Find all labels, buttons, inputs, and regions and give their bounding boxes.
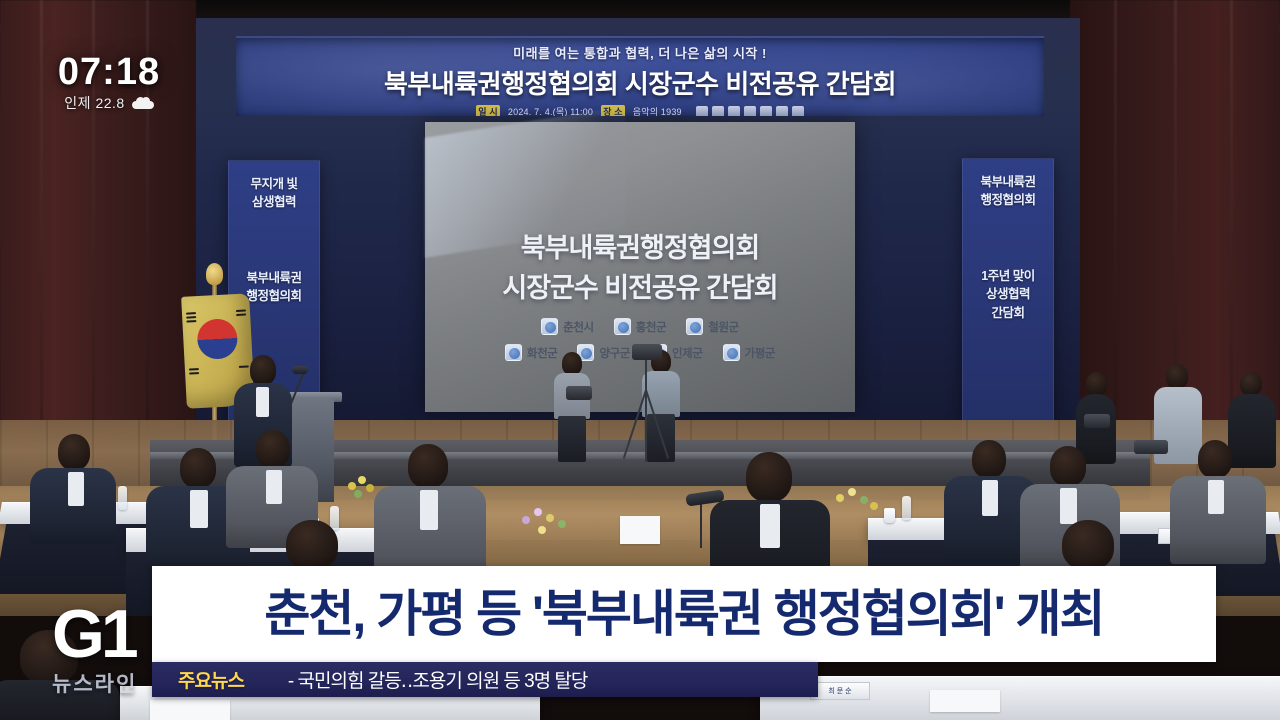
person-attendee-left-1 (30, 434, 116, 544)
tabletop-sign (620, 516, 660, 544)
city-emblem-icon (686, 318, 703, 335)
flower-arrangement (344, 474, 378, 506)
station-logo-g1: G1 (52, 600, 135, 668)
ticker-text: - 국민의힘 갈등‥조용기 의원 등 3명 탈당 (288, 666, 587, 693)
vbanner-left-line-1: 무지개 빛 (229, 175, 319, 193)
banner-date-key: 일 시 (476, 105, 500, 116)
stage-curtain-left (0, 0, 196, 470)
screen-title-line2: 시장군수 비전공유 간담회 (425, 266, 855, 305)
city-chip-gapyeong: 가평군 (723, 344, 776, 361)
press-camera-2 (1134, 440, 1168, 454)
vbanner-right-line-2: 행정협의회 (963, 191, 1053, 209)
banner-meta: 일 시 2024. 7. 4.(목) 11:00 장 소 음악의 1939 (236, 105, 1044, 116)
ticker-label: 주요뉴스 (178, 666, 244, 693)
person-attendee-right-3 (1170, 440, 1266, 564)
headline-text: 춘천, 가평 등 '북부내륙권 행정협의회' 개최 (264, 589, 1103, 639)
city-emblem-icon (723, 344, 740, 361)
flower-arrangement (520, 506, 576, 546)
vbanner-left-line-2: 삼생협력 (229, 193, 319, 211)
vbanner-right-line-1: 북부내륙권 (963, 173, 1053, 191)
city-emblem-icon (541, 318, 558, 335)
taeguk-icon (196, 318, 238, 360)
banner-place-value: 음악의 1939 (633, 105, 682, 116)
city-chip-hwacheon: 화천군 (505, 344, 558, 361)
flag-finial-icon (206, 263, 223, 285)
document-paper (150, 700, 230, 720)
water-bottle (902, 496, 911, 520)
vbanner-right-line-4: 상생협력 (963, 285, 1053, 303)
table-mic-stand (700, 500, 702, 548)
screen-title-line1: 북부내륙권행정협의회 (425, 226, 855, 265)
banner-tagline: 미래를 여는 통합과 협력, 더 나은 삶의 시작 ! (236, 43, 1044, 62)
banner-title: 북부내륙권행정협의회 시장군수 비전공유 간담회 (236, 64, 1044, 101)
water-bottle (118, 486, 127, 510)
city-chip-chuncheon: 춘천시 (541, 318, 594, 335)
city-chip-cheorwon: 철원군 (686, 318, 739, 335)
city-emblem-icon (505, 344, 522, 361)
vbanner-right-line-3: 1주년 맞이 (963, 267, 1053, 285)
headline-bar: 춘천, 가평 등 '북부내륙권 행정협의회' 개최 (152, 566, 1216, 662)
city-chip-hongcheon: 홍천군 (614, 318, 667, 335)
stage-banner: 미래를 여는 통합과 협력, 더 나은 삶의 시작 ! 북부내륙권행정협의회 시… (236, 36, 1044, 116)
vertical-banner-right: 북부내륙권 행정협의회 1주년 맞이 상생협력 간담회 (962, 158, 1054, 444)
press-camera-1 (1084, 414, 1110, 428)
city-emblem-icon (614, 318, 631, 335)
news-ticker-bar: 주요뉴스 - 국민의힘 갈등‥조용기 의원 등 3명 탈당 (152, 662, 818, 697)
program-name: 뉴스라인 (52, 668, 137, 698)
camera-tripod (624, 344, 668, 462)
document-paper (930, 690, 1000, 712)
vbanner-right-line-5: 간담회 (963, 304, 1053, 322)
banner-city-logos (696, 106, 804, 117)
screen-logo-row-1: 춘천시 홍천군 철원군 (541, 318, 739, 335)
broadcast-frame: 미래를 여는 통합과 협력, 더 나은 삶의 시작 ! 북부내륙권행정협의회 시… (0, 0, 1280, 720)
dslr-camera (566, 386, 592, 400)
nameplate: 최 문 순 (810, 682, 870, 700)
paper-cup (884, 508, 895, 523)
person-attendee-left-4 (374, 444, 486, 584)
person-photographer (552, 352, 592, 462)
podium-microphone (292, 366, 308, 374)
